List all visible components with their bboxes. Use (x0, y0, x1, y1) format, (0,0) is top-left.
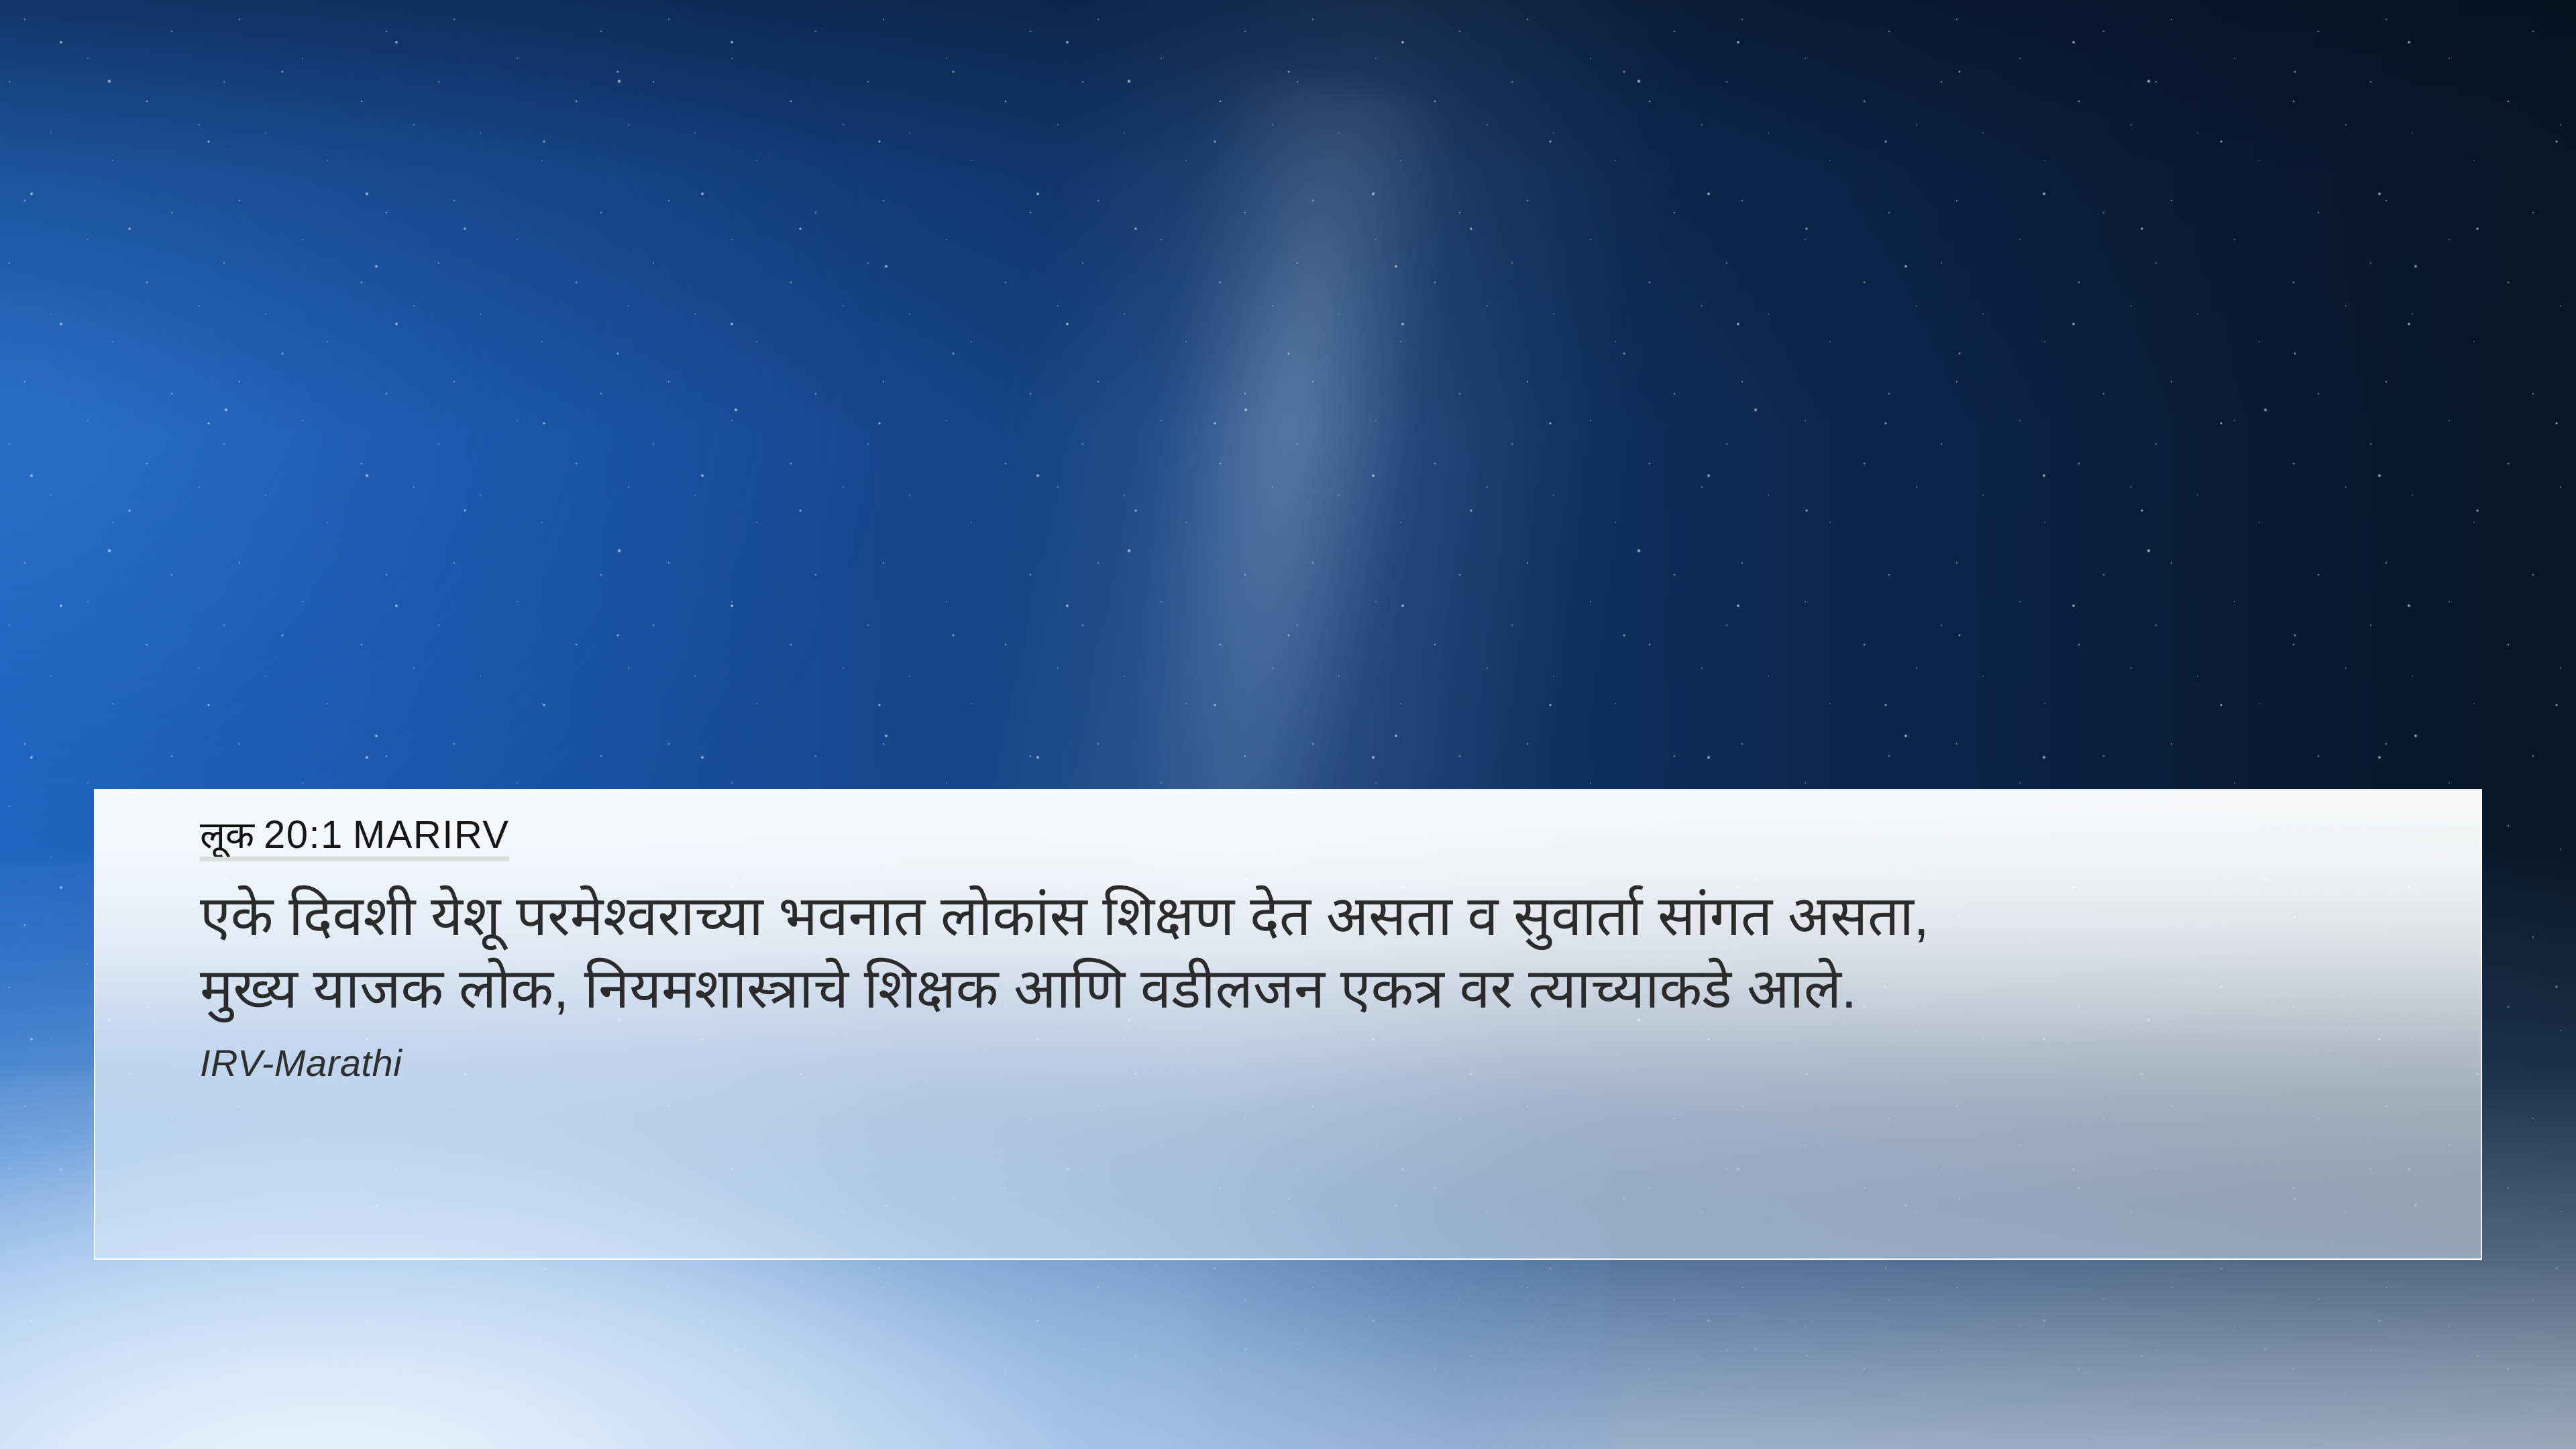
verse-reference-book: लूक (200, 814, 254, 856)
verse-reference: लूक20:1MARIRV (200, 816, 509, 861)
screenshot-stage: लूक20:1MARIRV एके दिवशी येशू परमेश्वराच्… (0, 0, 2576, 1449)
verse-attribution: IRV-Marathi (200, 1041, 2442, 1085)
verse-reference-underline (200, 857, 509, 861)
verse-text: एके दिवशी येशू परमेश्वराच्या भवनात लोकां… (200, 880, 2428, 1025)
verse-reference-chapter-verse: 20:1 (264, 813, 343, 857)
verse-reference-translation-code: MARIRV (353, 813, 510, 857)
verse-card: लूक20:1MARIRV एके दिवशी येशू परमेश्वराच्… (94, 789, 2482, 1260)
